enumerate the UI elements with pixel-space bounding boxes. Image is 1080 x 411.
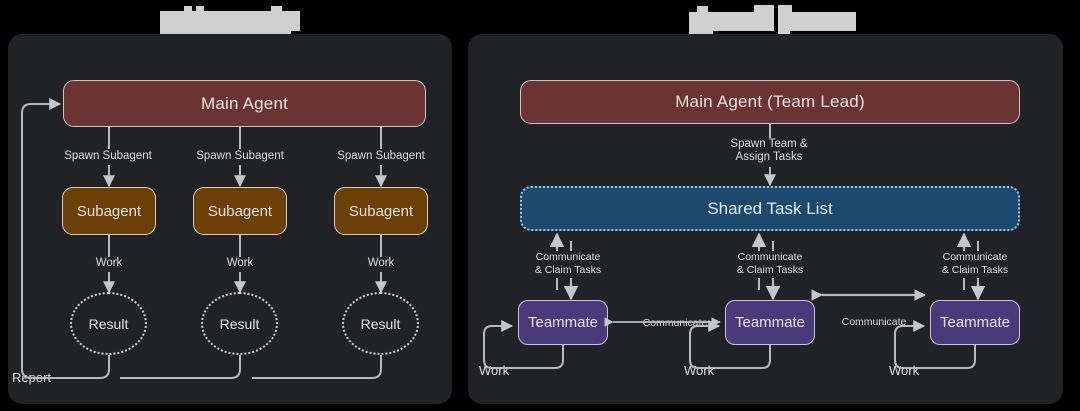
claim-down-edge-1	[570, 241, 572, 251]
report-label: Report	[12, 371, 82, 384]
work-edge-1-lower	[108, 272, 110, 287]
subagent-label-2: Subagent	[208, 203, 272, 220]
cc-label-3-line2: & Claim Tasks	[942, 264, 1008, 276]
right-work-label-2: Work	[684, 364, 730, 377]
claim-down-edge-2b	[772, 278, 774, 290]
result-node-2: Result	[201, 292, 278, 355]
spawn-subagent-label-3: Spawn Subagent	[321, 150, 441, 163]
claim-up-edge-2b	[758, 278, 760, 290]
right-main-agent-node[interactable]: Main Agent (Team Lead)	[520, 80, 1020, 124]
work-label-3: Work	[341, 257, 421, 270]
teammate-label-3: Teammate	[940, 314, 1010, 331]
subagent-label-1: Subagent	[77, 203, 141, 220]
cc-label-3-line1: Communicate	[943, 251, 1008, 263]
shared-task-list-node[interactable]: Shared Task List	[520, 186, 1020, 231]
claim-up-edge-3	[963, 241, 965, 251]
peer-communicate-label-1: Communicate	[633, 316, 717, 331]
result-node-3: Result	[342, 292, 419, 355]
subagent-node-2[interactable]: Subagent	[193, 187, 287, 235]
spawn-subagent-label-2: Spawn Subagent	[180, 150, 300, 163]
claim-up-edge-1b	[556, 278, 558, 290]
right-work-label-3: Work	[889, 364, 935, 377]
work-edge-3-upper	[380, 235, 382, 257]
spawn-team-edge-lower	[769, 167, 771, 179]
shared-task-list-label: Shared Task List	[707, 199, 832, 219]
teammate-node-2[interactable]: Teammate	[725, 300, 815, 345]
communicate-claim-label-2: Communicate & Claim Tasks	[715, 251, 825, 277]
cc-label-2-line1: Communicate	[738, 251, 803, 263]
cc-label-1-line2: & Claim Tasks	[535, 264, 601, 276]
communicate-claim-label-3: Communicate & Claim Tasks	[920, 251, 1030, 277]
right-main-agent-label: Main Agent (Team Lead)	[675, 92, 865, 112]
cc-label-2-line2: & Claim Tasks	[737, 264, 803, 276]
work-edge-1-upper	[108, 235, 110, 257]
result-label-3: Result	[361, 316, 401, 332]
spawn-edge-3-lower	[380, 165, 382, 180]
teammate-node-3[interactable]: Teammate	[930, 300, 1020, 345]
work-edge-3-lower	[380, 272, 382, 287]
teammate-label-1: Teammate	[528, 314, 598, 331]
claim-down-edge-3	[977, 241, 979, 251]
teammate-label-2: Teammate	[735, 314, 805, 331]
spawn-edge-1-upper	[108, 127, 110, 149]
spawn-team-label-line2: Assign Tasks	[736, 151, 803, 163]
spawn-team-label: Spawn Team & Assign Tasks	[709, 138, 829, 164]
spawn-edge-2-upper	[239, 127, 241, 149]
claim-down-edge-3b	[977, 278, 979, 290]
spawn-edge-3-upper	[380, 127, 382, 149]
subagent-node-3[interactable]: Subagent	[334, 187, 428, 235]
claim-up-edge-1	[556, 241, 558, 251]
spawn-edge-2-lower	[239, 165, 241, 180]
teammate-node-1[interactable]: Teammate	[518, 300, 608, 345]
result-label-2: Result	[220, 316, 260, 332]
left-main-agent-node[interactable]: Main Agent	[63, 80, 426, 127]
subagent-label-3: Subagent	[349, 203, 413, 220]
claim-down-edge-2	[772, 241, 774, 251]
result-label-1: Result	[89, 316, 129, 332]
result-node-1: Result	[70, 292, 147, 355]
subagent-node-1[interactable]: Subagent	[62, 187, 156, 235]
cc-label-1-line1: Communicate	[536, 251, 601, 263]
left-main-agent-label: Main Agent	[201, 94, 288, 114]
spawn-edge-1-lower	[108, 165, 110, 180]
claim-up-edge-3b	[963, 278, 965, 290]
communicate-claim-label-1: Communicate & Claim Tasks	[513, 251, 623, 277]
right-work-label-1: Work	[479, 364, 525, 377]
work-label-2: Work	[200, 257, 280, 270]
claim-up-edge-2	[758, 241, 760, 251]
diagram-canvas: Main Agent Spawn Subagent Spawn Subagent…	[0, 0, 1080, 411]
peer-communicate-label-2: Communicate	[832, 316, 916, 329]
spawn-team-label-line1: Spawn Team &	[730, 138, 807, 150]
spawn-subagent-label-1: Spawn Subagent	[48, 150, 168, 163]
work-edge-2-upper	[239, 235, 241, 257]
spawn-team-edge-upper	[769, 124, 771, 138]
work-label-1: Work	[69, 257, 149, 270]
claim-down-edge-1b	[570, 278, 572, 290]
work-edge-2-lower	[239, 272, 241, 287]
